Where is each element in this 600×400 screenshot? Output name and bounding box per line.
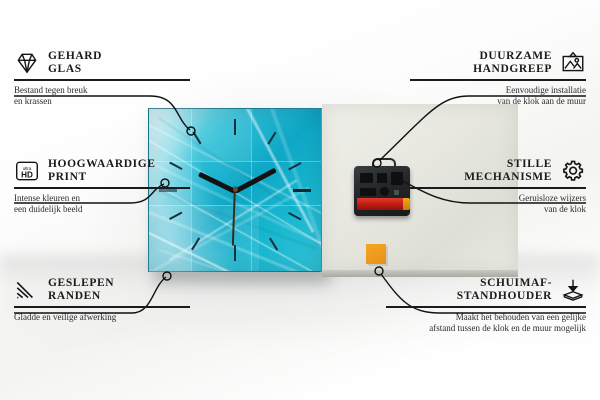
feature-header: GEHARD GLAS xyxy=(14,50,190,76)
clock-back-edge xyxy=(322,270,518,277)
feature-header: GESLEPEN RANDEN xyxy=(14,277,190,303)
feature-title: HOOGWAARDIGE PRINT xyxy=(48,158,156,184)
battery-positive-terminal xyxy=(403,198,410,210)
feature-desc-line1: Eenvoudige installatie xyxy=(410,85,586,96)
feature-gehard-glas[interactable]: GEHARD GLAS Bestand tegen breuk en krass… xyxy=(14,50,190,107)
infographic-canvas: GEHARD GLAS Bestand tegen breuk en krass… xyxy=(0,0,600,400)
svg-text:HD: HD xyxy=(21,171,33,180)
feature-title-line1: DUURZAME xyxy=(410,50,552,63)
feature-description: Bestand tegen breuk en krassen xyxy=(14,85,190,107)
feature-title: STILLE MECHANISME xyxy=(410,158,552,184)
feature-title-line1: GEHARD xyxy=(48,50,102,63)
feature-geslepen-randen[interactable]: GESLEPEN RANDEN Gladde en veilige afwerk… xyxy=(14,277,190,323)
feature-divider xyxy=(410,79,586,81)
feature-schuimaf-standhouder[interactable]: SCHUIMAF- STANDHOUDER Maakt het behouden… xyxy=(386,277,586,334)
feature-title-line2: RANDEN xyxy=(48,290,114,303)
feature-title: DUURZAME HANDGREEP xyxy=(410,50,552,76)
feature-title-line2: HANDGREEP xyxy=(410,63,552,76)
feature-title-line2: PRINT xyxy=(48,171,156,184)
feature-desc-line1: Bestand tegen breuk xyxy=(14,85,190,96)
feature-desc-line2: van de klok aan de muur xyxy=(410,96,586,107)
feature-desc-line1: Maakt het behouden van een gelijke xyxy=(386,312,586,323)
feature-description: Gladde en veilige afwerking xyxy=(14,312,190,323)
feature-title: GESLEPEN RANDEN xyxy=(48,277,114,303)
feature-divider xyxy=(386,306,586,308)
feature-title-line1: SCHUIMAF- xyxy=(386,277,552,290)
feature-divider xyxy=(14,187,190,189)
feature-header: SCHUIMAF- STANDHOUDER xyxy=(386,277,586,303)
feature-header: ultra HD HOOGWAARDIGE PRINT xyxy=(14,158,190,184)
feature-desc-line2: afstand tussen de klok en de muur mogeli… xyxy=(386,323,586,334)
feature-desc-line2: een duidelijk beeld xyxy=(14,204,190,215)
feature-divider xyxy=(14,79,190,81)
feature-desc-line1: Geruisloze wijzers xyxy=(410,193,586,204)
feature-title: GEHARD GLAS xyxy=(48,50,102,76)
feature-title-line1: STILLE xyxy=(410,158,552,171)
ultra-hd-icon: ultra HD xyxy=(14,158,40,184)
feature-divider xyxy=(14,306,190,308)
feature-desc-line1: Intense kleuren en xyxy=(14,193,190,204)
feature-duurzame-handgreep[interactable]: DUURZAME HANDGREEP Eenvoudige installati… xyxy=(410,50,586,107)
feature-header: DUURZAME HANDGREEP xyxy=(410,50,586,76)
feature-description: Geruisloze wijzers van de klok xyxy=(410,193,586,215)
feature-description: Intense kleuren en een duidelijk beeld xyxy=(14,193,190,215)
feature-desc-line2: en krassen xyxy=(14,96,190,107)
battery xyxy=(357,198,407,210)
gear-icon xyxy=(560,158,586,184)
feature-title-line2: GLAS xyxy=(48,63,102,76)
feature-title-line1: HOOGWAARDIGE xyxy=(48,158,156,171)
picture-frame-icon xyxy=(560,50,586,76)
feature-desc-line1: Gladde en veilige afwerking xyxy=(14,312,190,323)
feature-hoogwaardige-print[interactable]: ultra HD HOOGWAARDIGE PRINT Intense kleu… xyxy=(14,158,190,215)
feature-title-line2: STANDHOUDER xyxy=(386,290,552,303)
feature-title: SCHUIMAF- STANDHOUDER xyxy=(386,277,552,303)
foam-standoff-pad xyxy=(366,244,386,264)
feature-title-line2: MECHANISME xyxy=(410,171,552,184)
diamond-icon xyxy=(14,50,40,76)
beveled-edges-icon xyxy=(14,277,40,303)
feature-header: STILLE MECHANISME xyxy=(410,158,586,184)
feature-description: Maakt het behouden van een gelijke afsta… xyxy=(386,312,586,334)
feature-title-line1: GESLEPEN xyxy=(48,277,114,290)
feature-divider xyxy=(410,187,586,189)
feature-desc-line2: van de klok xyxy=(410,204,586,215)
feature-stille-mechanisme[interactable]: STILLE MECHANISME Geruisloze wijzers van… xyxy=(410,158,586,215)
feature-description: Eenvoudige installatie van de klok aan d… xyxy=(410,85,586,107)
press-pad-icon xyxy=(560,277,586,303)
